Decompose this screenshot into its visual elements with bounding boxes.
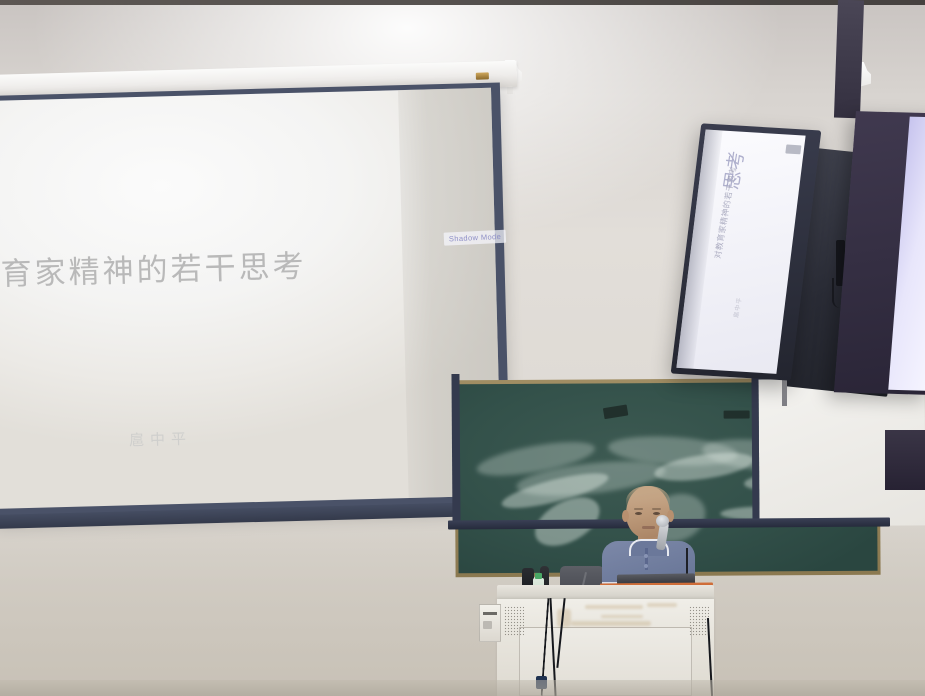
eye-left — [635, 512, 642, 515]
chalkboard-eraser[interactable] — [724, 410, 750, 418]
side-unit-slot — [483, 612, 497, 615]
mouth — [642, 526, 655, 529]
podium-stain — [647, 603, 677, 607]
podium-speaker-grille-right — [689, 606, 709, 636]
ceiling-line — [0, 0, 925, 5]
podium-speaker-grille-left — [504, 606, 524, 636]
floor-edge — [0, 680, 925, 696]
monitor-bezel-chip — [785, 144, 801, 154]
board-left-frame — [451, 374, 460, 526]
monitor-slide-author: 扈中平 — [731, 296, 744, 318]
podium-stain — [585, 605, 643, 609]
bottle-cap — [535, 573, 542, 579]
podium-stain — [571, 621, 651, 626]
podium-stain — [601, 615, 643, 618]
screen-surface: 对教育家精神的若干思考 扈中平 Shadow Mode — [0, 88, 502, 509]
head-highlight — [626, 486, 670, 508]
monitor2-lower-strip — [885, 430, 925, 490]
brow-left — [634, 508, 643, 510]
monitor2-bracket — [834, 0, 864, 118]
casing-chip — [476, 72, 489, 79]
shirt-button — [644, 564, 648, 568]
podium-side-unit[interactable] — [479, 604, 501, 642]
slide-author: 扈中平 — [129, 428, 193, 451]
main-projection-screen[interactable]: 对教育家精神的若干思考 扈中平 Shadow Mode — [0, 82, 511, 520]
monitor-screen: 思考 对教育家精神的若干思考 扈中平 — [676, 130, 805, 374]
chalkboard-eraser[interactable] — [603, 404, 628, 419]
slide-title: 对教育家精神的若干思考 — [0, 239, 363, 295]
shirt-button — [644, 554, 648, 558]
lecture-hall-photo: 对教育家精神的若干思考 扈中平 Shadow Mode — [0, 0, 925, 696]
shadow-mode-badge: Shadow Mode — [444, 230, 507, 246]
monitor2-screen — [888, 117, 925, 391]
side-unit-button[interactable] — [483, 621, 492, 629]
ear-left — [622, 510, 629, 522]
brow-right — [652, 508, 661, 510]
